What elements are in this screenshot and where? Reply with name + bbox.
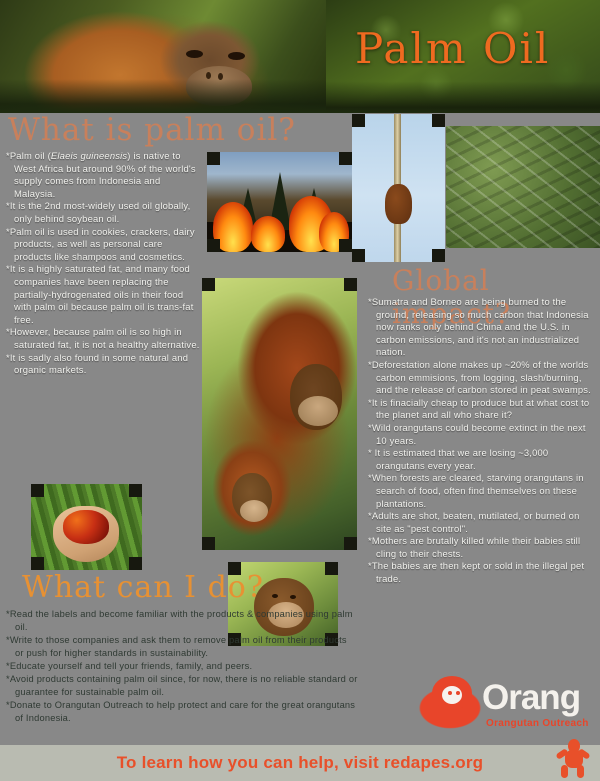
what-can-i-do-bullets: *Read the labels and become familiar wit… <box>6 608 358 725</box>
footer-bar: To learn how you can help, visit redapes… <box>0 745 600 781</box>
photo-corner <box>129 484 142 497</box>
list-item: *It is finacially cheap to produce but a… <box>368 397 596 422</box>
list-item: *Adults are shot, beaten, mutilated, or … <box>368 510 596 535</box>
logo-wordmark: Orang <box>482 678 580 718</box>
orangutan-logo-eye-left <box>448 691 452 695</box>
list-item: *Write to those companies and ask them t… <box>6 634 358 660</box>
section-heading-what-is-palm-oil: What is palm oil? <box>8 112 296 148</box>
photo-corner <box>325 562 338 575</box>
orangutan-logo-face-shape <box>442 686 462 704</box>
list-item: *It is sadly also found in some natural … <box>6 352 202 377</box>
list-item: *Palm oil is used in cookies, crackers, … <box>6 226 202 264</box>
list-item: *However, because palm oil is so high in… <box>6 326 202 351</box>
list-item: *Read the labels and become familiar wit… <box>6 608 358 634</box>
photo-corner <box>207 152 220 165</box>
hero-fade-overlay <box>0 0 326 113</box>
palm-fruit-in-hands-photo <box>31 484 142 570</box>
palm-oil-poster: Palm Oil What is palm oil? *Palm oil (El… <box>0 0 600 781</box>
baby-muzzle-shape <box>240 500 268 522</box>
photo-corner <box>432 114 445 127</box>
aerial-plantation-photo <box>446 126 600 248</box>
photo-corner <box>129 557 142 570</box>
list-item: *Avoid products containing palm oil sinc… <box>6 673 358 699</box>
photo-corner <box>344 537 357 550</box>
global-impact-bullets: *Sumatra and Borneo are being burned to … <box>368 296 596 586</box>
forest-fire-photo <box>207 152 352 252</box>
photo-corner <box>202 278 215 291</box>
photo-corner <box>339 239 352 252</box>
list-item: *Sumatra and Borneo are being burned to … <box>368 296 596 359</box>
photo-corner <box>207 239 220 252</box>
photo-corner <box>432 249 445 262</box>
orangutan-outreach-logo[interactable]: Orang Orangutan Outreach <box>408 676 600 738</box>
orangutan-logo-eye-right <box>456 691 460 695</box>
list-item: *When forests are cleared, starving oran… <box>368 472 596 510</box>
photo-corner <box>31 484 44 497</box>
baby-eye-left-shape <box>272 594 278 598</box>
photo-corner <box>352 249 365 262</box>
photo-corner <box>352 114 365 127</box>
list-item: *It is a highly saturated fat, and many … <box>6 263 202 326</box>
orangutan-on-pole-photo <box>352 114 445 262</box>
section-heading-what-can-i-do: What can I do? <box>22 570 264 605</box>
mother-and-baby-orangutan-photo <box>202 278 357 550</box>
list-item: *Donate to Orangutan Outreach to help pr… <box>6 699 358 725</box>
footer-ape-leg-right <box>577 765 584 778</box>
footer-call-to-action[interactable]: To learn how you can help, visit redapes… <box>0 745 600 781</box>
photo-corner <box>339 152 352 165</box>
photo-corner <box>31 557 44 570</box>
what-is-palm-oil-bullets: *Palm oil (Elaeis guineensis) is native … <box>6 150 202 377</box>
orangutan-footer-icon <box>556 739 590 779</box>
logo-subtitle: Orangutan Outreach <box>486 718 589 729</box>
baby-eye-right-shape <box>290 595 296 599</box>
list-item: *Deforestation alone makes up ~20% of th… <box>368 359 596 397</box>
list-item: *Mothers are brutally killed while their… <box>368 535 596 560</box>
mother-muzzle-shape <box>298 396 338 426</box>
flame-shape <box>251 216 285 252</box>
orangutan-portrait-photo <box>0 0 326 113</box>
list-item: *Educate yourself and tell your friends,… <box>6 660 358 673</box>
list-item: *It is the 2nd most-widely used oil glob… <box>6 200 202 225</box>
list-item: *Wild orangutans could become extinct in… <box>368 422 596 447</box>
orangutan-silhouette-shape <box>385 184 412 224</box>
list-item: *Palm oil (Elaeis guineensis) is native … <box>6 150 202 200</box>
page-title: Palm Oil <box>355 24 550 73</box>
photo-corner <box>202 537 215 550</box>
palm-fruit-shape <box>63 510 109 544</box>
footer-ape-leg-left <box>561 765 568 778</box>
photo-corner <box>344 278 357 291</box>
list-item: * It is estimated that we are losing ~3,… <box>368 447 596 472</box>
list-item: *The babies are then kept or sold in the… <box>368 560 596 585</box>
